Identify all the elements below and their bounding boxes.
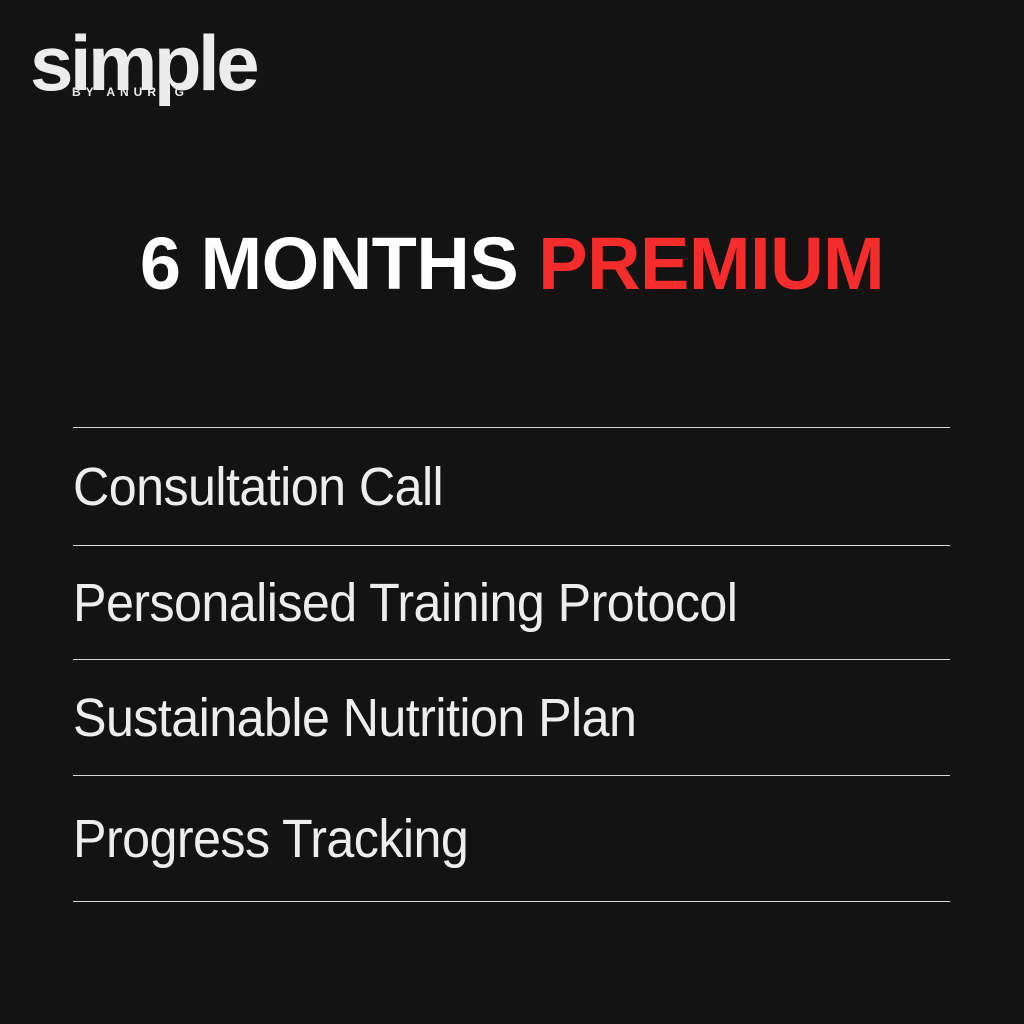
list-divider [73, 659, 950, 660]
page-title: 6 MONTHS PREMIUM [0, 222, 1024, 306]
pricing-card: simple BY ANURAG 6 MONTHS PREMIUM Consul… [0, 0, 1024, 1024]
plan-tier: PREMIUM [538, 222, 884, 305]
feature-label: Consultation Call [73, 458, 443, 516]
brand-logo: simple BY ANURAG [30, 24, 330, 116]
list-divider [73, 775, 950, 776]
list-item: Progress Tracking [73, 776, 950, 901]
feature-list: Consultation Call Personalised Training … [73, 427, 950, 902]
feature-label: Personalised Training Protocol [73, 574, 737, 632]
list-item: Consultation Call [73, 428, 950, 545]
list-divider [73, 427, 950, 428]
list-item: Personalised Training Protocol [73, 546, 950, 659]
plan-duration: 6 MONTHS [140, 222, 538, 305]
list-item: Sustainable Nutrition Plan [73, 660, 950, 775]
brand-tagline: BY ANURAG [72, 86, 189, 98]
list-divider [73, 901, 950, 902]
feature-label: Sustainable Nutrition Plan [73, 689, 636, 747]
feature-label: Progress Tracking [73, 810, 468, 868]
list-divider [73, 545, 950, 546]
